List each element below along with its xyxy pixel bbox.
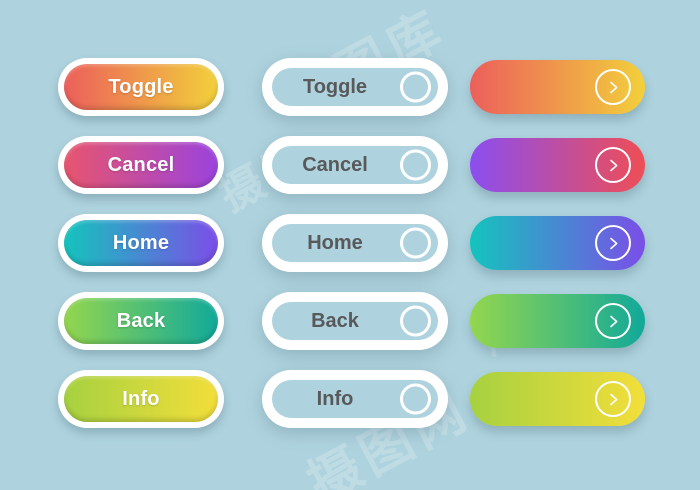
column-outlined-buttons: Toggle Cancel [250,0,465,490]
row-cancel: Cancel [250,136,465,198]
row-toggle: Toggle [0,58,250,120]
arrow-button-cancel[interactable] [470,138,645,192]
button-core: Cancel [272,146,438,184]
row-cancel: Cancel [0,136,250,198]
toggle-button-back[interactable]: Back [262,292,448,350]
circle-outline-icon[interactable] [400,306,431,337]
chevron-right-circle-icon[interactable] [595,225,631,261]
filled-button-info[interactable]: Info [58,370,224,428]
filled-button-surface: Toggle [64,64,218,110]
toggle-button-label: Info [272,388,398,411]
chevron-right-circle-icon[interactable] [595,147,631,183]
circle-outline-icon[interactable] [400,150,431,181]
column-filled-buttons: Toggle Cancel Home Back [0,0,250,490]
arrow-button-back[interactable] [470,294,645,348]
toggle-button-home[interactable]: Home [262,214,448,272]
row-back: Back [0,292,250,354]
row-home [465,214,700,276]
filled-button-surface: Info [64,376,218,422]
row-toggle: Toggle [250,58,465,120]
filled-button-surface: Home [64,220,218,266]
button-gradient-ring: Info [267,375,443,423]
circle-outline-icon[interactable] [400,72,431,103]
button-gradient-ring: Home [267,219,443,267]
toggle-button-info[interactable]: Info [262,370,448,428]
filled-button-home[interactable]: Home [58,214,224,272]
toggle-button-toggle[interactable]: Toggle [262,58,448,116]
filled-button-label: Home [113,232,169,255]
filled-button-label: Cancel [108,154,175,177]
toggle-button-label: Back [272,310,398,333]
arrow-button-home[interactable] [470,216,645,270]
chevron-right-circle-icon[interactable] [595,381,631,417]
chevron-right-circle-icon[interactable] [595,69,631,105]
arrow-button-toggle[interactable] [470,60,645,114]
button-gradient-ring: Back [267,297,443,345]
toggle-button-cancel[interactable]: Cancel [262,136,448,194]
row-info [465,370,700,432]
row-cancel [465,136,700,198]
filled-button-label: Info [122,388,159,411]
row-back [465,292,700,354]
filled-button-cancel[interactable]: Cancel [58,136,224,194]
button-gradient-ring: Toggle [267,63,443,111]
button-core: Home [272,224,438,262]
row-back: Back [250,292,465,354]
row-info: Info [250,370,465,432]
chevron-right-circle-icon[interactable] [595,303,631,339]
toggle-button-label: Toggle [272,76,398,99]
row-info: Info [0,370,250,432]
filled-button-label: Toggle [108,76,173,99]
circle-outline-icon[interactable] [400,384,431,415]
filled-button-label: Back [117,310,166,333]
filled-button-back[interactable]: Back [58,292,224,350]
filled-button-surface: Cancel [64,142,218,188]
filled-button-surface: Back [64,298,218,344]
row-home: Home [0,214,250,276]
button-core: Back [272,302,438,340]
arrow-button-info[interactable] [470,372,645,426]
button-core: Toggle [272,68,438,106]
circle-outline-icon[interactable] [400,228,431,259]
row-home: Home [250,214,465,276]
button-core: Info [272,380,438,418]
button-gradient-ring: Cancel [267,141,443,189]
toggle-button-label: Home [272,232,398,255]
row-toggle [465,58,700,120]
toggle-button-label: Cancel [272,154,398,177]
column-arrow-buttons [465,0,700,490]
filled-button-toggle[interactable]: Toggle [58,58,224,116]
button-set-canvas: 图库 摄图 摄图网 库 Toggle Cancel Home [0,0,700,490]
